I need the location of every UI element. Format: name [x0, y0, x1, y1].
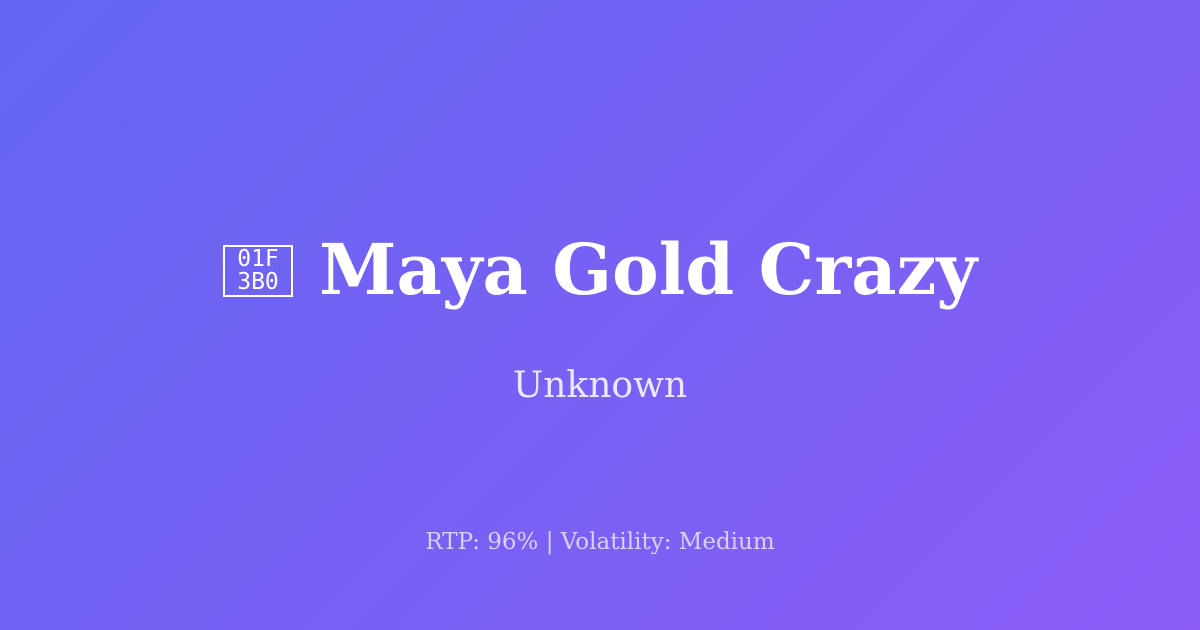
game-meta-line: RTP: 96% | Volatility: Medium [0, 527, 1200, 557]
provider-label: Unknown [0, 362, 1200, 410]
tofu-codepoint-high: 01F [237, 248, 279, 271]
slot-machine-emoji-icon: 01F 3B0 [223, 245, 293, 297]
tofu-codepoint-low: 3B0 [237, 271, 279, 294]
title-row: 01F 3B0 Maya Gold Crazy [0, 232, 1200, 308]
game-og-card: 01F 3B0 Maya Gold Crazy Unknown RTP: 96%… [0, 0, 1200, 630]
page-title: Maya Gold Crazy [319, 232, 977, 308]
